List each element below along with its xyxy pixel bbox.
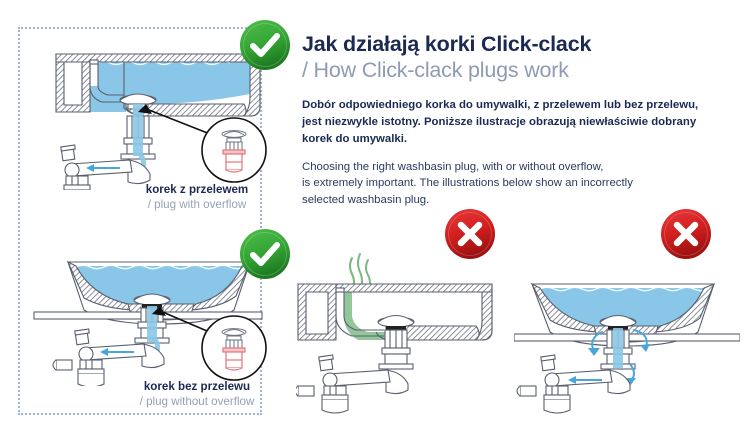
paragraph-pl-line-2: jest niezwykle istotny. Poniższe ilustra… — [302, 116, 696, 128]
caption-en: / plug with overflow — [112, 197, 282, 212]
infographic-root: korek z przelewem / plug with overflow — [0, 0, 750, 430]
check-icon — [238, 227, 292, 281]
inset-plug-with-overflow — [202, 118, 266, 182]
illustration-correct-with-overflow — [28, 42, 268, 190]
status-badge-correct-2 — [238, 227, 292, 281]
paragraph-pl-line-1: Dobór odpowiedniego korka do umywalki, z… — [302, 99, 698, 111]
check-icon — [238, 18, 292, 72]
cross-icon — [659, 207, 713, 261]
illustration-incorrect-stagnant — [296, 252, 506, 422]
illustration-correct-without-overflow — [28, 238, 268, 386]
paragraph-en-line-3: selected washbasin plug. — [302, 194, 429, 206]
caption-pl: korek z przelewem — [112, 182, 282, 197]
illustration-incorrect-backflow — [514, 252, 740, 422]
paragraph-pl: Dobór odpowiedniego korka do umywalki, z… — [302, 97, 722, 148]
page-title-en: / How Click-clack plugs work — [302, 57, 722, 83]
paragraph-en-line-2: is extremely important. The illustration… — [302, 177, 633, 189]
status-badge-correct-1 — [238, 18, 292, 72]
caption-with-overflow: korek z przelewem / plug with overflow — [112, 182, 282, 212]
caption-without-overflow: korek bez przelewu / plug without overfl… — [112, 379, 282, 409]
page-title-pl: Jak działają korki Click-clack — [302, 32, 722, 57]
paragraph-en: Choosing the right washbasin plug, with … — [302, 159, 722, 210]
caption-en: / plug without overflow — [112, 394, 282, 409]
paragraph-pl-line-3: korek do umywalki. — [302, 133, 407, 145]
cross-icon — [443, 207, 497, 261]
status-badge-incorrect-2 — [659, 207, 713, 261]
inset-plug-without-overflow — [202, 316, 266, 380]
paragraph-en-line-1: Choosing the right washbasin plug, with … — [302, 161, 603, 173]
caption-pl: korek bez przelewu — [112, 379, 282, 394]
status-badge-incorrect-1 — [443, 207, 497, 261]
text-column: Jak działają korki Click-clack / How Cli… — [302, 32, 722, 209]
